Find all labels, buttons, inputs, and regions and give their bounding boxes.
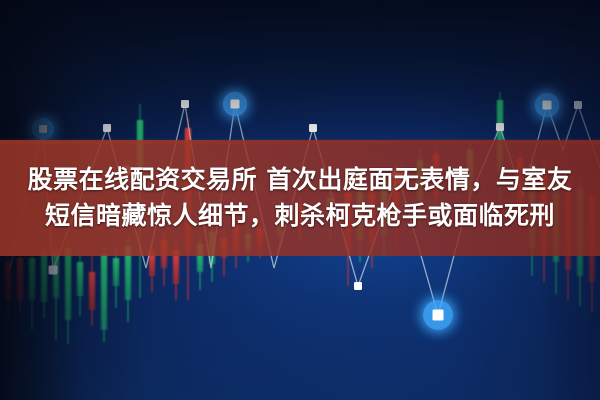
- background-top-vignette: [0, 0, 600, 150]
- headline-line-2: 短信暗藏惊人细节，刺杀柯克枪手或面临死刑: [45, 200, 555, 233]
- headline-line-1: 股票在线配资交易所 首次出庭面无表情，与室友: [28, 164, 573, 197]
- image-canvas: 股票在线配资交易所 首次出庭面无表情，与室友 短信暗藏惊人细节，刺杀柯克枪手或面…: [0, 0, 600, 400]
- headline-text-block: 股票在线配资交易所 首次出庭面无表情，与室友 短信暗藏惊人细节，刺杀柯克枪手或面…: [0, 140, 600, 256]
